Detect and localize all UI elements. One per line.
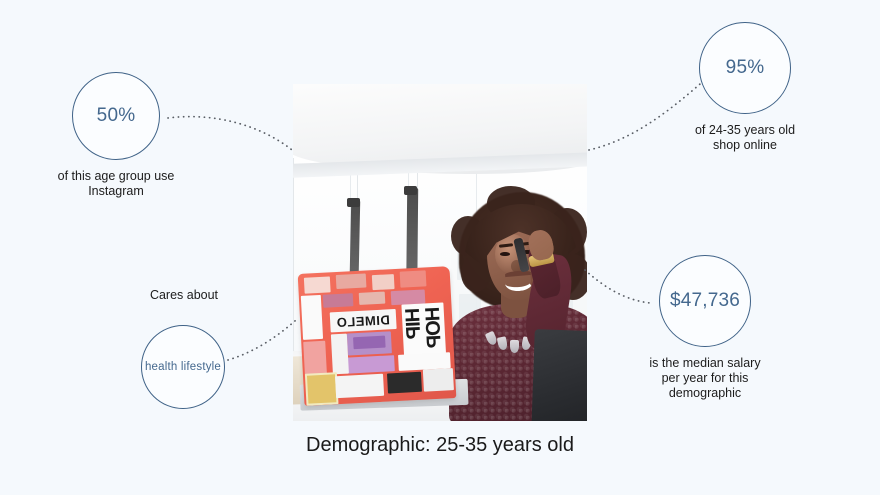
cares-about-label: Cares about <box>130 288 238 303</box>
stat-lifestyle: health lifestyle <box>141 325 225 409</box>
stat-value-lifestyle: health lifestyle <box>145 361 221 373</box>
stat-circle-shop-online: 95% <box>699 22 791 114</box>
stat-caption-salary: is the median salary per year for this d… <box>610 356 800 401</box>
infographic-canvas: DIMELO HIPHOP <box>0 0 880 495</box>
stat-circle-lifestyle: health lifestyle <box>141 325 225 409</box>
stat-value-instagram: 50% <box>97 105 136 127</box>
tablet-device <box>531 329 587 421</box>
demographic-caption: Demographic: 25-35 years old <box>0 434 880 457</box>
sticker-dimelo: DIMELO <box>330 309 397 332</box>
stat-instagram: 50% of this age group use Instagram <box>26 72 206 199</box>
hero-photo: DIMELO HIPHOP <box>293 84 587 421</box>
stat-caption-shop-online: of 24-35 years old shop online <box>655 123 835 153</box>
connector-lifestyle <box>228 320 296 360</box>
stat-circle-instagram: 50% <box>72 72 160 160</box>
stat-circle-salary: $47,736 <box>659 255 751 347</box>
laptop-with-stickers: DIMELO HIPHOP <box>298 266 457 406</box>
sticker-hiphop: HIPHOP <box>401 302 446 358</box>
stat-shop-online: 95% of 24-35 years old shop online <box>655 22 835 153</box>
stat-caption-instagram: of this age group use Instagram <box>26 169 206 199</box>
stat-value-shop-online: 95% <box>726 57 765 79</box>
stat-salary: $47,736 is the median salary per year fo… <box>610 255 800 401</box>
stat-value-salary: $47,736 <box>670 290 740 312</box>
